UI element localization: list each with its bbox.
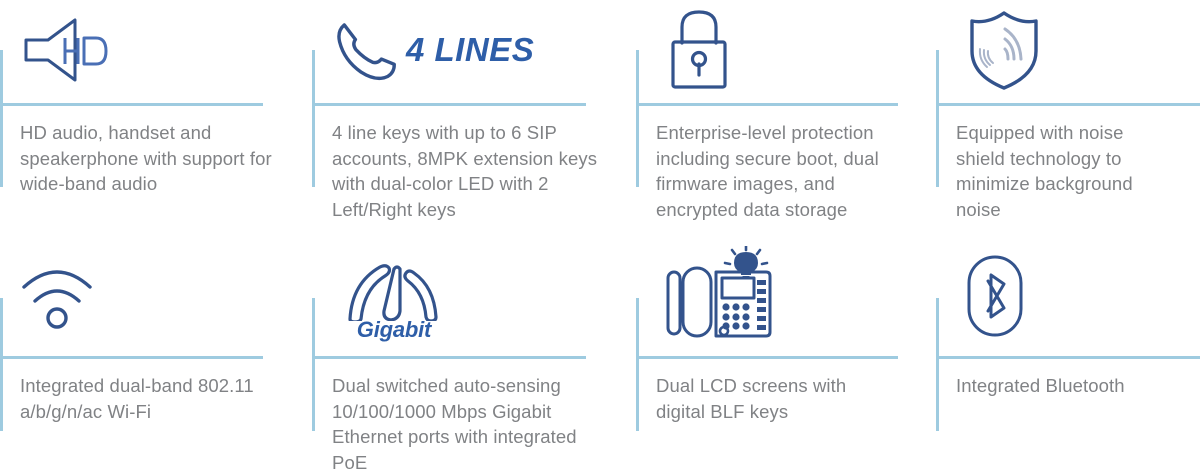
feature-description: Dual switched auto-sensing 10/100/1000 M… [332, 373, 604, 475]
feature-description: Enterprise-level protection including se… [656, 120, 906, 222]
feature-card-bluetooth: Integrated Bluetooth [936, 240, 1200, 469]
noise-shield-icon-group [964, 0, 1044, 100]
phone-handset-icon [334, 13, 400, 87]
feature-card-wifi: Integrated dual-band 802.11 a/b/g/n/ac W… [0, 240, 312, 469]
padlock-icon [662, 7, 736, 93]
shield-signal-icon [964, 7, 1044, 93]
feature-card-gigabit: Gigabit Dual switched auto-sensing 10/10… [312, 240, 636, 469]
feature-card-four-lines: 4 LINES 4 line keys with up to 6 SIP acc… [312, 0, 636, 240]
feature-description: Integrated dual-band 802.11 a/b/g/n/ac W… [20, 373, 260, 424]
bluetooth-icon [964, 253, 1026, 339]
feature-description: Equipped with noise shield technology to… [956, 120, 1176, 222]
dual-lcd-icon-group [662, 240, 782, 352]
feature-description: HD audio, handset and speakerphone with … [20, 120, 278, 197]
feature-description: Dual LCD screens with digital BLF keys [656, 373, 886, 424]
horizontal-divider [936, 103, 1200, 106]
horizontal-divider [0, 356, 263, 359]
horizontal-divider [936, 356, 1200, 359]
horizontal-divider [312, 356, 586, 359]
gigabit-label: Gigabit [340, 317, 448, 343]
vertical-divider [0, 298, 3, 431]
wifi-icon [16, 259, 106, 333]
horizontal-divider [0, 103, 263, 106]
speedometer-icon [340, 257, 448, 321]
four-lines-label: 4 LINES [406, 31, 534, 69]
desk-phone-bulb-icon [662, 246, 782, 346]
feature-description: 4 line keys with up to 6 SIP accounts, 8… [332, 120, 604, 222]
vertical-divider [0, 50, 3, 187]
hd-audio-icon-group [18, 0, 118, 100]
vertical-divider [636, 298, 639, 431]
horizontal-divider [636, 356, 898, 359]
horizontal-divider [312, 103, 586, 106]
vertical-divider [636, 50, 639, 187]
feature-description: Integrated Bluetooth [956, 373, 1186, 399]
feature-card-hd-audio: HD audio, handset and speakerphone with … [0, 0, 312, 240]
feature-grid: HD audio, handset and speakerphone with … [0, 0, 1200, 469]
vertical-divider [936, 298, 939, 431]
gigabit-icon-group: Gigabit [340, 244, 448, 356]
vertical-divider [312, 298, 315, 431]
feature-card-security: Enterprise-level protection including se… [636, 0, 936, 240]
vertical-divider [312, 50, 315, 187]
feature-card-dual-lcd: Dual LCD screens with digital BLF keys [636, 240, 936, 469]
bluetooth-icon-group [964, 240, 1026, 352]
vertical-divider [936, 50, 939, 187]
feature-card-noise-shield: Equipped with noise shield technology to… [936, 0, 1200, 240]
four-lines-icon-group: 4 LINES [334, 0, 534, 100]
security-icon-group [662, 0, 736, 100]
horizontal-divider [636, 103, 898, 106]
wifi-icon-group [16, 240, 106, 352]
hd-speaker-icon [18, 14, 118, 86]
